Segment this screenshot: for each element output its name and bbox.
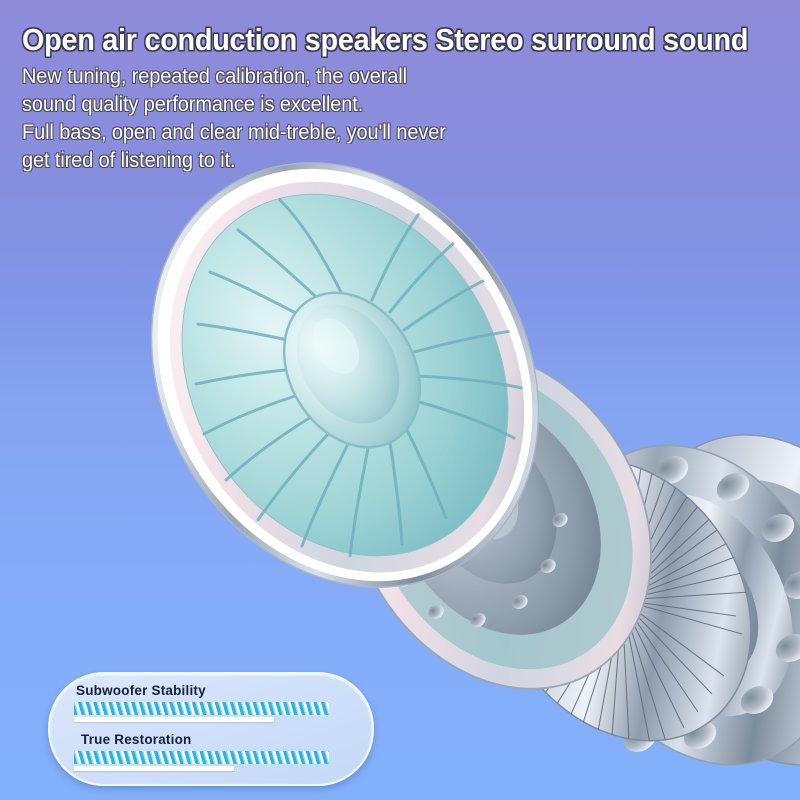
metric-underline: [74, 766, 234, 771]
promo-copy: Open air conduction speakers Stereo surr…: [22, 24, 792, 175]
metric-bar: [74, 751, 329, 764]
metric-row-true-restoration: True Restoration: [50, 732, 372, 771]
body-line-1: New tuning, repeated calibration, the ov…: [22, 63, 754, 91]
body-line-3: Full bass, open and clear mid-treble, yo…: [22, 119, 754, 147]
metric-bar: [74, 702, 329, 715]
metric-label: True Restoration: [81, 732, 372, 747]
metric-row-subwoofer-stability: Subwoofer Stability: [50, 683, 372, 722]
body-line-4: get tired of listening to it.: [22, 147, 754, 175]
body-line-2: sound quality performance is excellent.: [22, 91, 754, 119]
metric-underline: [74, 717, 274, 722]
spec-card: Subwoofer Stability True Restoration: [48, 672, 374, 786]
promo-banner: Open air conduction speakers Stereo surr…: [0, 0, 800, 800]
headline: Open air conduction speakers Stereo surr…: [22, 24, 738, 57]
metric-label: Subwoofer Stability: [76, 683, 372, 698]
body-copy: New tuning, repeated calibration, the ov…: [22, 63, 792, 176]
